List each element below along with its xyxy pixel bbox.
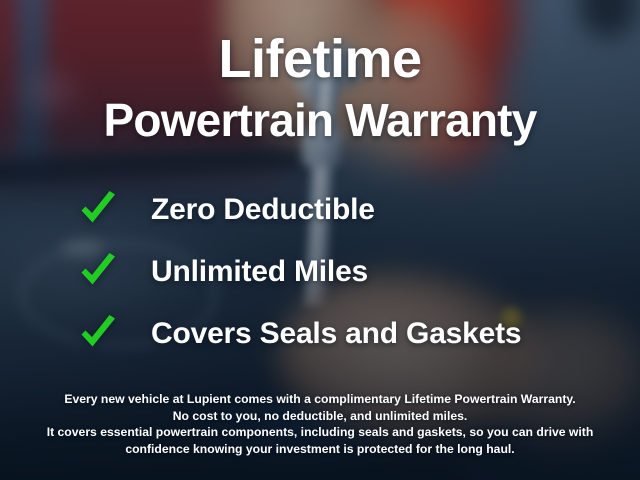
banner-content: Lifetime Powertrain Warranty Zero Deduct… xyxy=(0,0,640,480)
headline-line-1: Lifetime xyxy=(218,32,421,86)
benefit-label: Unlimited Miles xyxy=(151,255,368,289)
body-copy-line: confidence knowing your investment is pr… xyxy=(26,441,614,458)
benefit-item-covers-seals-and-gaskets: Covers Seals and Gaskets xyxy=(0,303,640,365)
benefit-label: Covers Seals and Gaskets xyxy=(151,317,521,351)
benefits-list: Zero Deductible Unlimited Miles Covers S… xyxy=(0,179,640,365)
body-copy-line: No cost to you, no deductible, and unlim… xyxy=(26,408,614,425)
benefit-item-zero-deductible: Zero Deductible xyxy=(0,179,640,241)
headline-line-2: Powertrain Warranty xyxy=(104,97,537,143)
body-copy-line: It covers essential powertrain component… xyxy=(26,424,614,441)
benefit-item-unlimited-miles: Unlimited Miles xyxy=(0,241,640,303)
lifetime-powertrain-warranty-banner: Lifetime Powertrain Warranty Zero Deduct… xyxy=(0,0,640,480)
check-icon xyxy=(78,190,118,230)
body-copy-line: Every new vehicle at Lupient comes with … xyxy=(26,391,614,408)
benefit-label: Zero Deductible xyxy=(151,193,375,227)
check-icon xyxy=(78,314,118,354)
body-copy: Every new vehicle at Lupient comes with … xyxy=(0,391,640,458)
check-icon xyxy=(78,252,118,292)
